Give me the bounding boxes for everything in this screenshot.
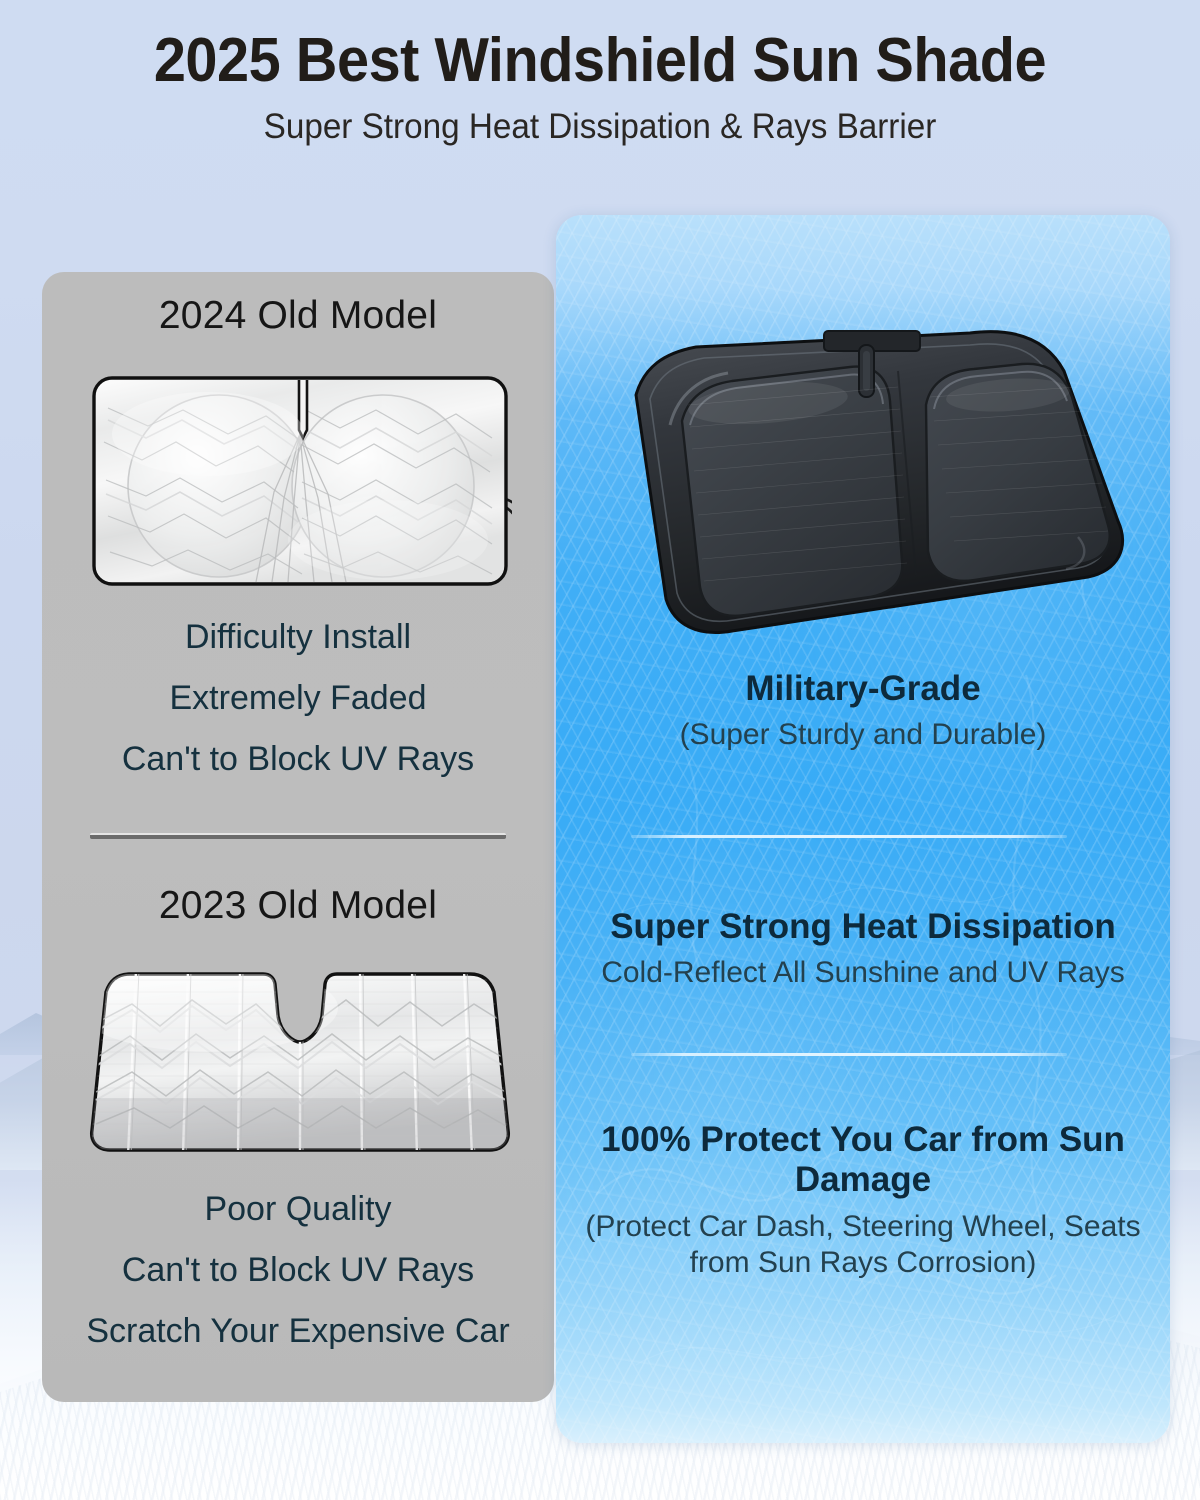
old-models-card: 2024 Old Model (42, 272, 554, 1402)
old-model-2024-heading: 2024 Old Model (42, 294, 554, 338)
feature-title: Super Strong Heat Dissipation (568, 907, 1158, 947)
drawback-item: Scratch Your Expensive Car (42, 1314, 554, 1348)
old-models-divider (90, 833, 506, 839)
old-model-2023-image (88, 960, 512, 1160)
old-model-2023-heading: 2023 Old Model (42, 884, 554, 928)
feature-title: Military-Grade (568, 669, 1158, 709)
feature-title: 100% Protect You Car from Sun Damage (568, 1120, 1158, 1201)
feature-divider (631, 835, 1067, 838)
old-model-2024-image (88, 368, 512, 596)
drawback-item: Can't to Block UV Rays (42, 742, 554, 776)
drawback-item: Extremely Faded (42, 681, 554, 715)
page-title: 2025 Best Windshield Sun Shade (42, 0, 1158, 93)
feature-subtitle: (Protect Car Dash, Steering Wheel, Seats… (568, 1209, 1158, 1281)
feature-subtitle: Cold-Reflect All Sunshine and UV Rays (568, 955, 1158, 991)
feature-divider (631, 1053, 1067, 1056)
drawback-item: Difficulty Install (42, 620, 554, 654)
feature-block: Super Strong Heat Dissipation Cold-Refle… (568, 907, 1158, 991)
new-model-image (578, 275, 1148, 665)
drawback-item: Can't to Block UV Rays (42, 1253, 554, 1287)
drawback-item: Poor Quality (42, 1192, 554, 1226)
page-header: 2025 Best Windshield Sun Shade Super Str… (0, 0, 1200, 175)
new-model-card: Military-Grade (Super Sturdy and Durable… (556, 215, 1170, 1443)
feature-block: Military-Grade (Super Sturdy and Durable… (568, 669, 1158, 753)
page-subtitle: Super Strong Heat Dissipation & Rays Bar… (30, 93, 1170, 147)
feature-block: 100% Protect You Car from Sun Damage (Pr… (568, 1120, 1158, 1281)
old-model-2023-drawbacks: Poor Quality Can't to Block UV Rays Scra… (42, 1192, 554, 1375)
old-model-2024-drawbacks: Difficulty Install Extremely Faded Can't… (42, 620, 554, 803)
feature-subtitle: (Super Sturdy and Durable) (568, 717, 1158, 753)
